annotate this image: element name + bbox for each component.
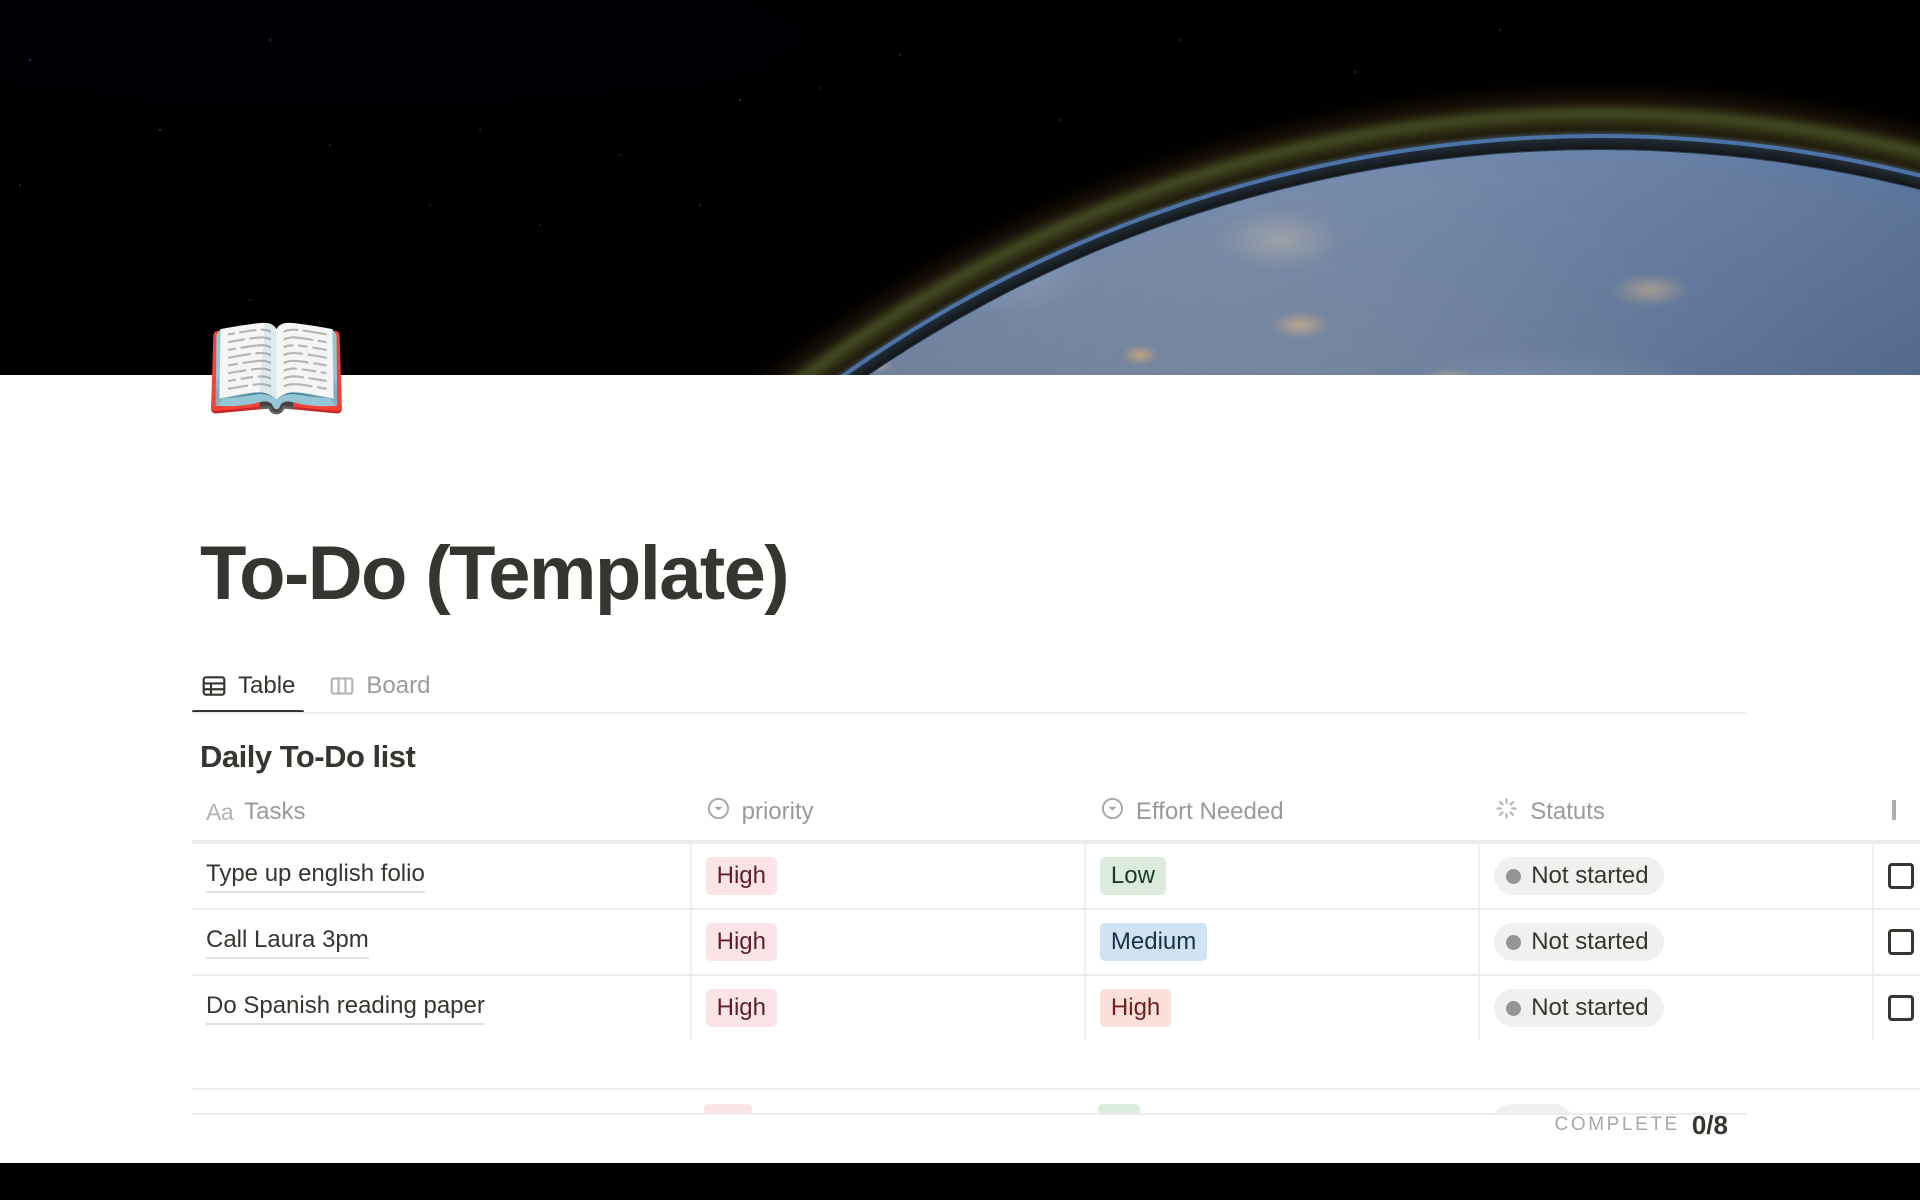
database-table: Aa Tasks priority [192,784,1920,1040]
tab-board-label: Board [366,672,430,700]
effort-pill[interactable]: Low [1100,857,1166,895]
board-icon [329,673,355,699]
checkbox-column-icon [1888,797,1900,828]
task-title[interactable]: Do Spanish reading paper [206,992,485,1025]
view-switcher-divider [192,712,1747,714]
cell-checkbox[interactable] [1872,910,1920,974]
status-dot-icon [1506,869,1521,884]
cell-task[interactable]: Type up english folio [192,844,690,908]
cell-task[interactable]: Do Spanish reading paper [192,976,690,1040]
bottom-letterbox-bar [0,1163,1920,1200]
status-dot-icon [1506,1001,1521,1016]
effort-pill[interactable]: High [1100,989,1171,1027]
checkbox-icon[interactable] [1888,995,1914,1021]
status-pill[interactable]: Not started [1494,857,1663,895]
aa-text-icon: Aa [206,799,233,826]
table-row[interactable]: Type up english folio High Low Not start… [192,842,1920,908]
database-title[interactable]: Daily To-Do list [200,739,415,775]
column-header-effort-needed[interactable]: Effort Needed [1084,784,1478,840]
status-pill[interactable]: Not started [1494,989,1663,1027]
cell-effort[interactable]: High [1084,976,1478,1040]
table-footer-summary: COMPLETE 0/8 [0,1095,1920,1155]
column-header-priority[interactable]: priority [690,784,1084,840]
cell-checkbox[interactable] [1872,976,1920,1040]
notion-page: 📖 To-Do (Template) Table [0,0,1920,1200]
cell-priority[interactable]: High [690,844,1084,908]
priority-pill[interactable]: High [706,923,777,961]
column-header-effort-label: Effort Needed [1136,798,1284,826]
status-label: Not started [1531,928,1648,956]
priority-pill[interactable]: High [706,989,777,1027]
cell-status[interactable]: Not started [1478,976,1872,1040]
cell-priority[interactable]: High [690,910,1084,974]
column-header-tasks-label: Tasks [244,798,305,826]
page-title[interactable]: To-Do (Template) [200,530,788,617]
task-title[interactable]: Type up english folio [206,860,425,893]
view-switcher: Table Board [192,658,455,714]
status-label: Not started [1531,862,1648,890]
checkbox-icon[interactable] [1888,929,1914,955]
tab-table-label: Table [238,672,295,700]
status-dot-icon [1506,935,1521,950]
cell-task[interactable]: Call Laura 3pm [192,910,690,974]
cell-status[interactable]: Not started [1478,910,1872,974]
column-header-statuts[interactable]: Statuts [1478,784,1872,840]
cell-checkbox[interactable] [1872,844,1920,908]
column-header-checkbox[interactable] [1872,784,1920,840]
open-book-icon[interactable]: 📖 [203,305,346,433]
cell-status[interactable]: Not started [1478,844,1872,908]
complete-label: COMPLETE [1555,1114,1680,1136]
table-header-row: Aa Tasks priority [192,784,1920,842]
column-header-tasks[interactable]: Aa Tasks [192,784,690,840]
table-row[interactable]: Call Laura 3pm High Medium Not started [192,908,1920,974]
checkbox-icon[interactable] [1888,863,1914,889]
cell-effort[interactable]: Medium [1084,910,1478,974]
column-header-priority-label: priority [742,798,814,826]
tab-board[interactable]: Board [320,672,439,714]
status-label: Not started [1531,994,1648,1022]
priority-pill[interactable]: High [706,857,777,895]
select-chevron-icon [706,796,731,828]
table-row[interactable]: Do Spanish reading paper High High Not s… [192,974,1920,1040]
task-title[interactable]: Call Laura 3pm [206,926,369,959]
complete-value[interactable]: 0/8 [1692,1110,1728,1141]
effort-pill[interactable]: Medium [1100,923,1207,961]
column-header-statuts-label: Statuts [1530,798,1605,826]
cell-effort[interactable]: Low [1084,844,1478,908]
status-pill[interactable]: Not started [1494,923,1663,961]
status-spinner-icon [1494,796,1519,828]
table-icon [201,673,227,699]
select-chevron-icon [1100,796,1125,828]
tab-table[interactable]: Table [192,672,304,714]
cell-priority[interactable]: High [690,976,1084,1040]
